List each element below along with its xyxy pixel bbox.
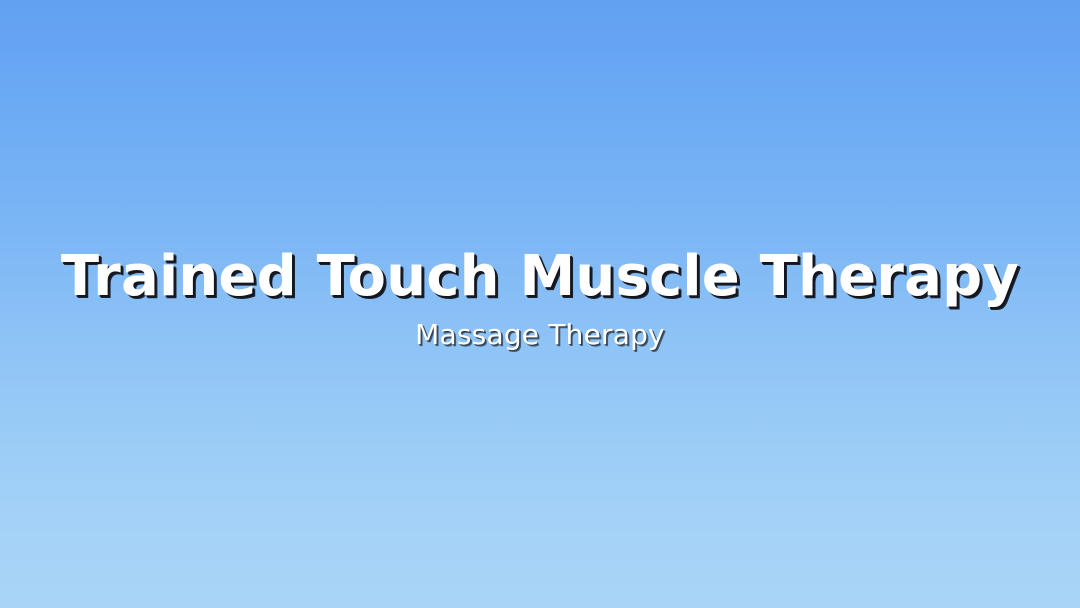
- page-tagline: Massage Therapy: [415, 318, 665, 352]
- hero-content: Trained Touch Muscle Therapy Massage The…: [0, 246, 1080, 352]
- page-title: Trained Touch Muscle Therapy: [61, 246, 1019, 308]
- hero-banner: Trained Touch Muscle Therapy Massage The…: [0, 0, 1080, 608]
